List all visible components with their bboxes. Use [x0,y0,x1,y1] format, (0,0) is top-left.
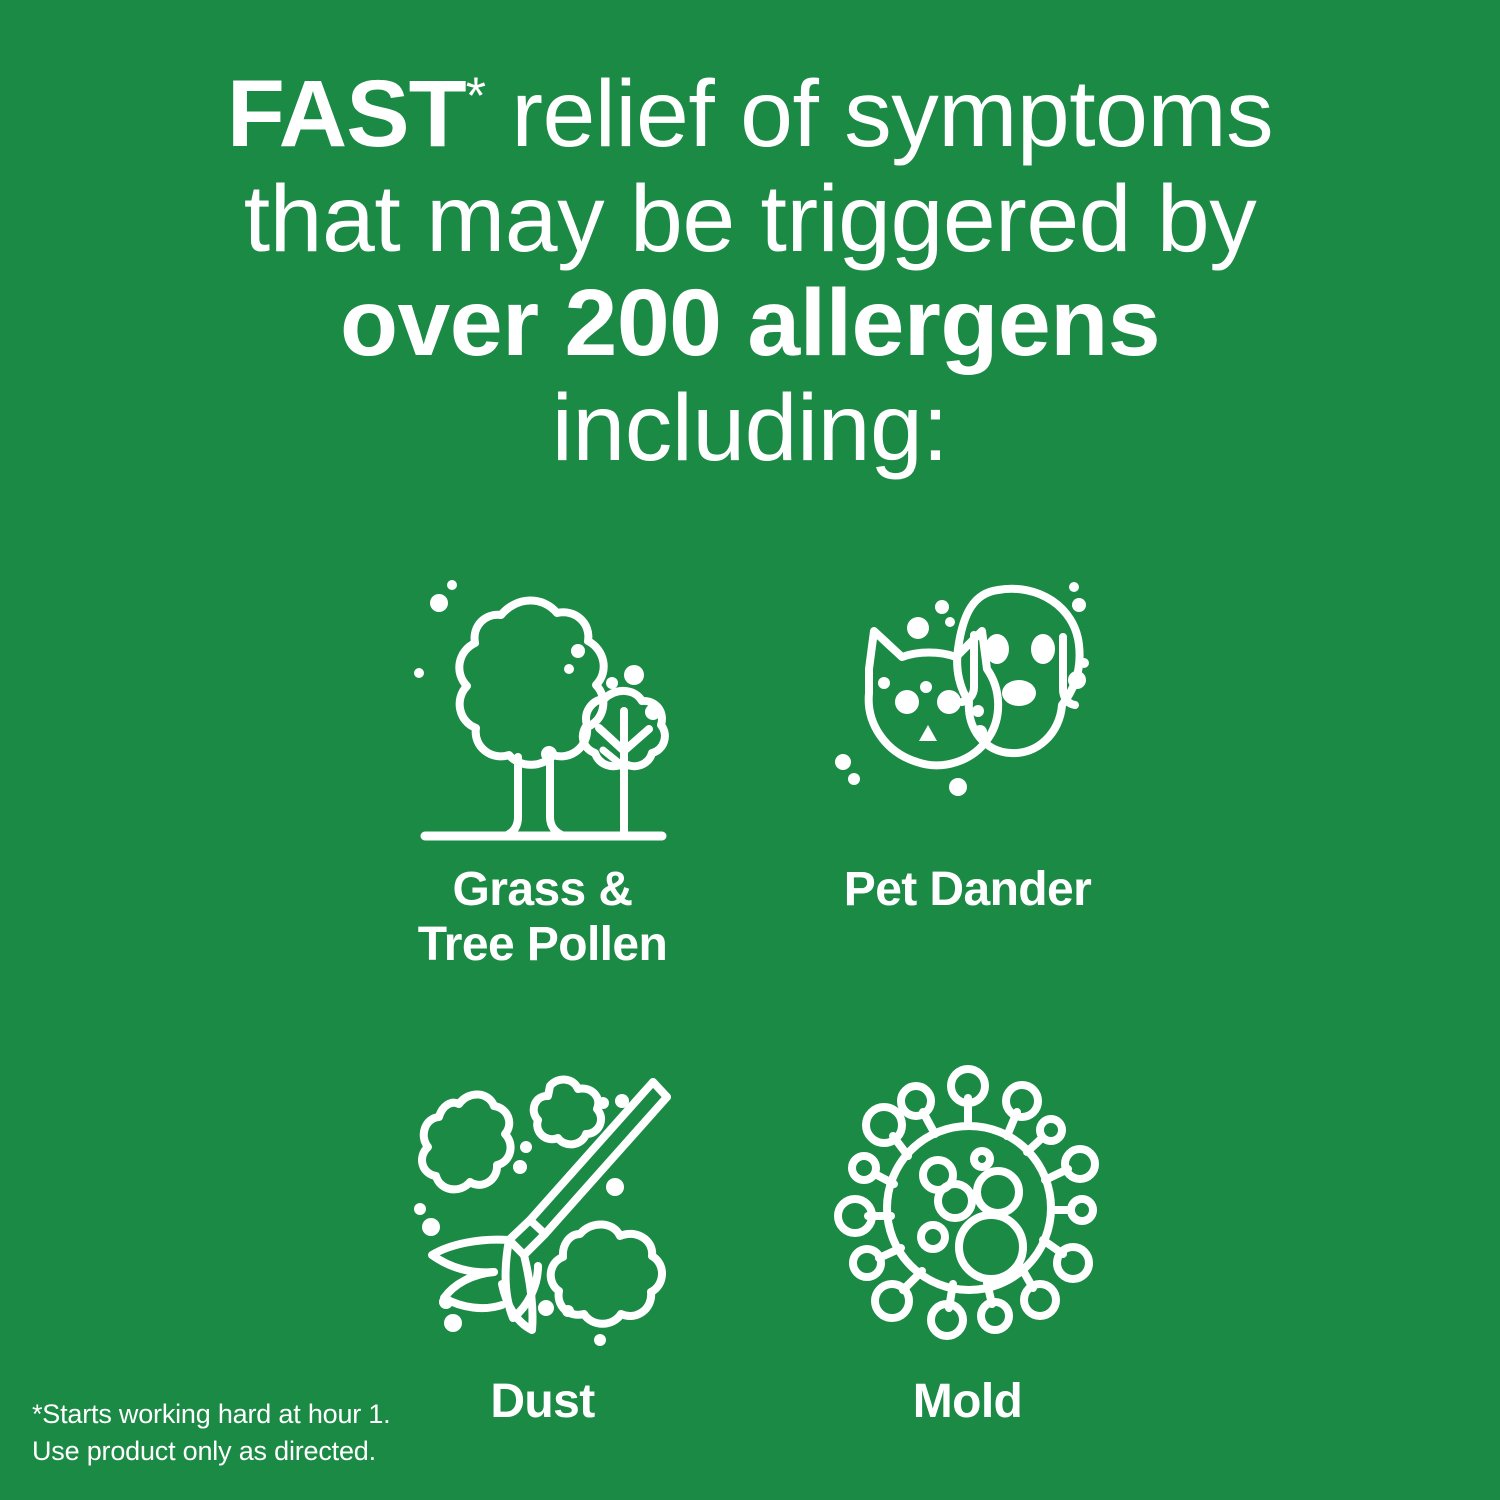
broom-ferrule [509,1220,545,1255]
dog-eye-right [1031,634,1055,664]
allergen-label-mold: Mold [913,1374,1023,1429]
dog-nose [1002,680,1036,706]
mold-spot-3 [977,1171,1019,1213]
headline-line-4: including: [0,376,1500,481]
cat-head-outline [869,631,998,765]
tree-pollen-icon-box [413,555,673,840]
mold-spikes [838,1069,1095,1336]
allergen-label-pet-dander: Pet Dander [844,862,1091,917]
dust-icon-box [413,1056,673,1346]
headline-line-2: that may be triggered by [0,167,1500,272]
mold-spot-1 [974,1151,990,1167]
tree-pollen-icon [413,565,673,840]
dust-broom-icon [410,1068,675,1346]
headline-line-1-rest: relief of symptoms [485,61,1273,167]
broom-handle-bottom [545,1097,667,1234]
cat-eye-left [895,690,919,714]
pet-dander-icon-box [838,555,1098,840]
promo-panel: FAST* relief of symptoms that may be tri… [0,0,1500,1500]
pet-dander-icon [830,565,1105,840]
headline-asterisk: * [466,67,486,125]
allergen-item-dust: Dust [330,1056,755,1429]
headline-fast-word: FAST [227,61,466,167]
allergen-item-pet-dander: Pet Dander [755,555,1180,972]
headline-line-1: FAST* relief of symptoms [0,62,1500,167]
headline-block: FAST* relief of symptoms that may be tri… [0,62,1500,480]
cat-eye-right [937,690,961,714]
dust-cloud-top [534,1080,601,1145]
cat-nose [919,725,937,741]
headline-line-3: over 200 allergens [0,271,1500,376]
broom-handle-top [530,1082,653,1220]
dog-eye-left [985,634,1009,664]
dust-cloud-left [422,1095,511,1190]
mold-spore-icon [835,1068,1100,1346]
mold-icon-box [838,1056,1098,1346]
allergen-item-mold: Mold [755,1056,1180,1429]
allergen-row-2: Dust [330,1056,1180,1429]
allergen-label-grass-tree-pollen: Grass & Tree Pollen [418,862,668,972]
allergen-row-1: Grass & Tree Pollen [330,555,1180,972]
allergen-label-dust: Dust [490,1374,594,1429]
mold-spot-5 [921,1225,945,1249]
mold-spot-4 [938,1184,972,1218]
allergen-grid: Grass & Tree Pollen [330,555,1180,1430]
footnote-disclaimer: *Starts working hard at hour 1. Use prod… [32,1396,391,1471]
allergen-item-grass-tree-pollen: Grass & Tree Pollen [330,555,755,972]
bristle-1 [432,1240,509,1273]
mold-spot-6 [959,1215,1023,1279]
